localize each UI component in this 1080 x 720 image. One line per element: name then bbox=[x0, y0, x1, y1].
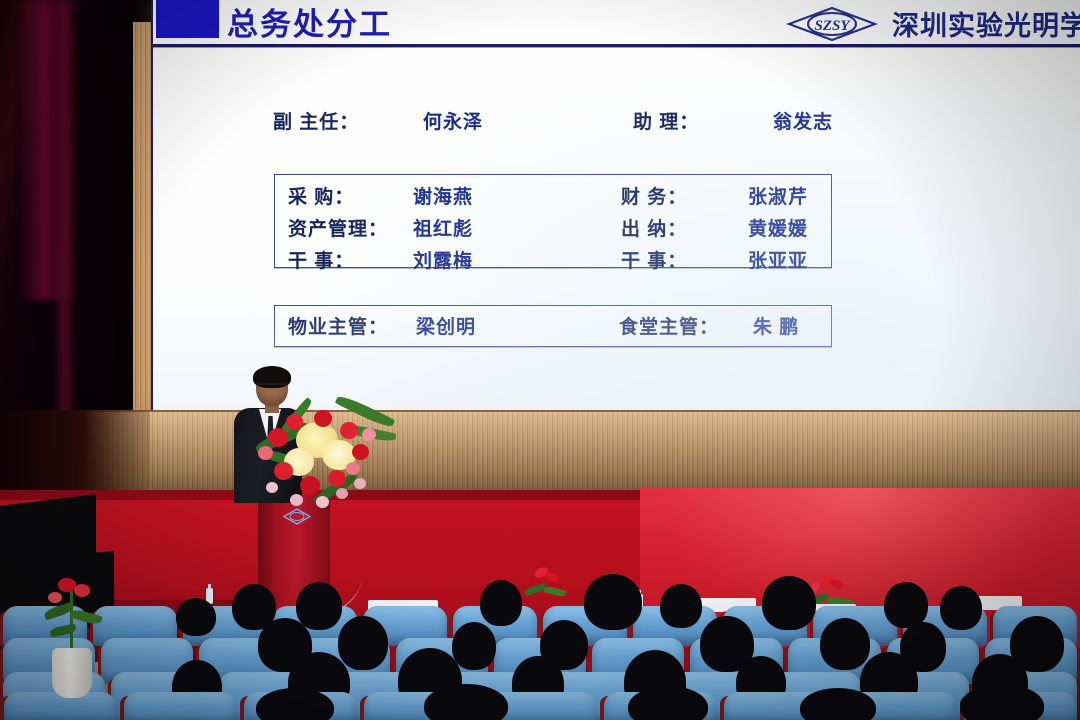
canteen-supervisor-label: 食堂主管： bbox=[619, 312, 719, 339]
deputy-director-label: 副 主任： bbox=[273, 107, 423, 134]
finance-name: 张淑芹 bbox=[748, 182, 808, 209]
slide-title: 总务处分工 bbox=[227, 0, 392, 44]
row-asset-cashier: 资产管理： 祖红彪 出 纳： 黄媛媛 bbox=[153, 212, 1080, 242]
curtain-light-glow-secondary bbox=[52, 0, 78, 420]
header-accent-block bbox=[156, 0, 219, 38]
audience-head bbox=[256, 688, 334, 720]
potted-plant-flower bbox=[74, 584, 90, 597]
audience-head bbox=[424, 684, 508, 720]
header-divider-thin bbox=[153, 47, 1080, 48]
screenshot-root: 总务处分工 SZSY 深圳实验光明学 副 主任： 何永泽 bbox=[0, 0, 1080, 720]
slide-body: 副 主任： 何永泽 助 理： 翁发志 采 购： 谢海燕 财 务： 张淑芹 资产管… bbox=[153, 52, 1080, 408]
row-assistant: 助 理： 翁发志 bbox=[633, 107, 833, 134]
wood-pillar bbox=[133, 22, 153, 414]
audience-head bbox=[296, 582, 342, 630]
canteen-supervisor-name: 朱 鹏 bbox=[753, 312, 799, 339]
audience-head bbox=[176, 598, 216, 636]
clerk-right-label: 干 事： bbox=[621, 246, 687, 273]
presenter-glasses-icon bbox=[257, 383, 287, 391]
assistant-label: 助 理： bbox=[633, 107, 773, 134]
clerk-left-name: 刘露梅 bbox=[413, 246, 473, 273]
audience-head bbox=[660, 584, 702, 628]
cashier-label: 出 纳： bbox=[621, 214, 687, 241]
audience-head bbox=[800, 688, 876, 720]
audience-head bbox=[960, 684, 1044, 720]
school-logo: SZSY 深圳实验光明学 bbox=[786, 4, 1080, 43]
top-row: 副 主任： 何永泽 助 理： 翁发志 bbox=[273, 107, 963, 134]
stage-back-wood-wall bbox=[0, 410, 1080, 496]
svg-text:SZSY: SZSY bbox=[814, 18, 851, 34]
row-purchasing-finance: 采 购： 谢海燕 财 务： 张淑芹 bbox=[153, 180, 1080, 210]
clerk-left-label: 干 事： bbox=[288, 246, 354, 273]
assistant-name: 翁发志 bbox=[773, 107, 833, 134]
slide-header: 总务处分工 SZSY 深圳实验光明学 bbox=[153, 0, 1080, 46]
purchasing-name: 谢海燕 bbox=[413, 182, 473, 209]
audience bbox=[0, 560, 1080, 720]
flower-bouquet bbox=[250, 398, 400, 518]
plant-pot bbox=[52, 648, 92, 698]
row-clerk-clerk: 干 事： 刘露梅 干 事： 张亚亚 bbox=[153, 244, 1080, 274]
row-deputy-director: 副 主任： 何永泽 bbox=[273, 107, 633, 134]
stage-back-wall-shadow bbox=[0, 410, 150, 494]
clerk-right-name: 张亚亚 bbox=[748, 246, 808, 273]
potted-plant-flower bbox=[48, 592, 62, 603]
audience-head bbox=[338, 616, 388, 670]
potted-plant-stem bbox=[70, 588, 73, 650]
asset-management-name: 祖红彪 bbox=[413, 214, 473, 241]
audience-head bbox=[628, 686, 708, 720]
row-property-canteen: 物业主管： 梁创明 食堂主管： 朱 鹏 bbox=[153, 310, 1080, 340]
purchasing-label: 采 购： bbox=[288, 182, 354, 209]
property-supervisor-label: 物业主管： bbox=[288, 312, 388, 339]
projection-screen: 总务处分工 SZSY 深圳实验光明学 副 主任： 何永泽 bbox=[151, 0, 1080, 412]
audience-head bbox=[820, 618, 870, 670]
audience-head bbox=[940, 586, 982, 630]
audience-head bbox=[762, 576, 816, 630]
cashier-name: 黄媛媛 bbox=[748, 214, 808, 241]
property-supervisor-name: 梁创明 bbox=[416, 312, 476, 339]
finance-label: 财 务： bbox=[621, 182, 687, 209]
audience-head bbox=[452, 622, 496, 670]
asset-management-label: 资产管理： bbox=[288, 214, 388, 241]
school-diamond-logo-icon: SZSY bbox=[786, 5, 878, 43]
audience-head bbox=[480, 580, 522, 626]
deputy-director-name: 何永泽 bbox=[423, 107, 483, 134]
school-name-text: 深圳实验光明学 bbox=[892, 4, 1080, 43]
seat-row-4 bbox=[0, 692, 1080, 720]
audience-head bbox=[584, 574, 642, 630]
